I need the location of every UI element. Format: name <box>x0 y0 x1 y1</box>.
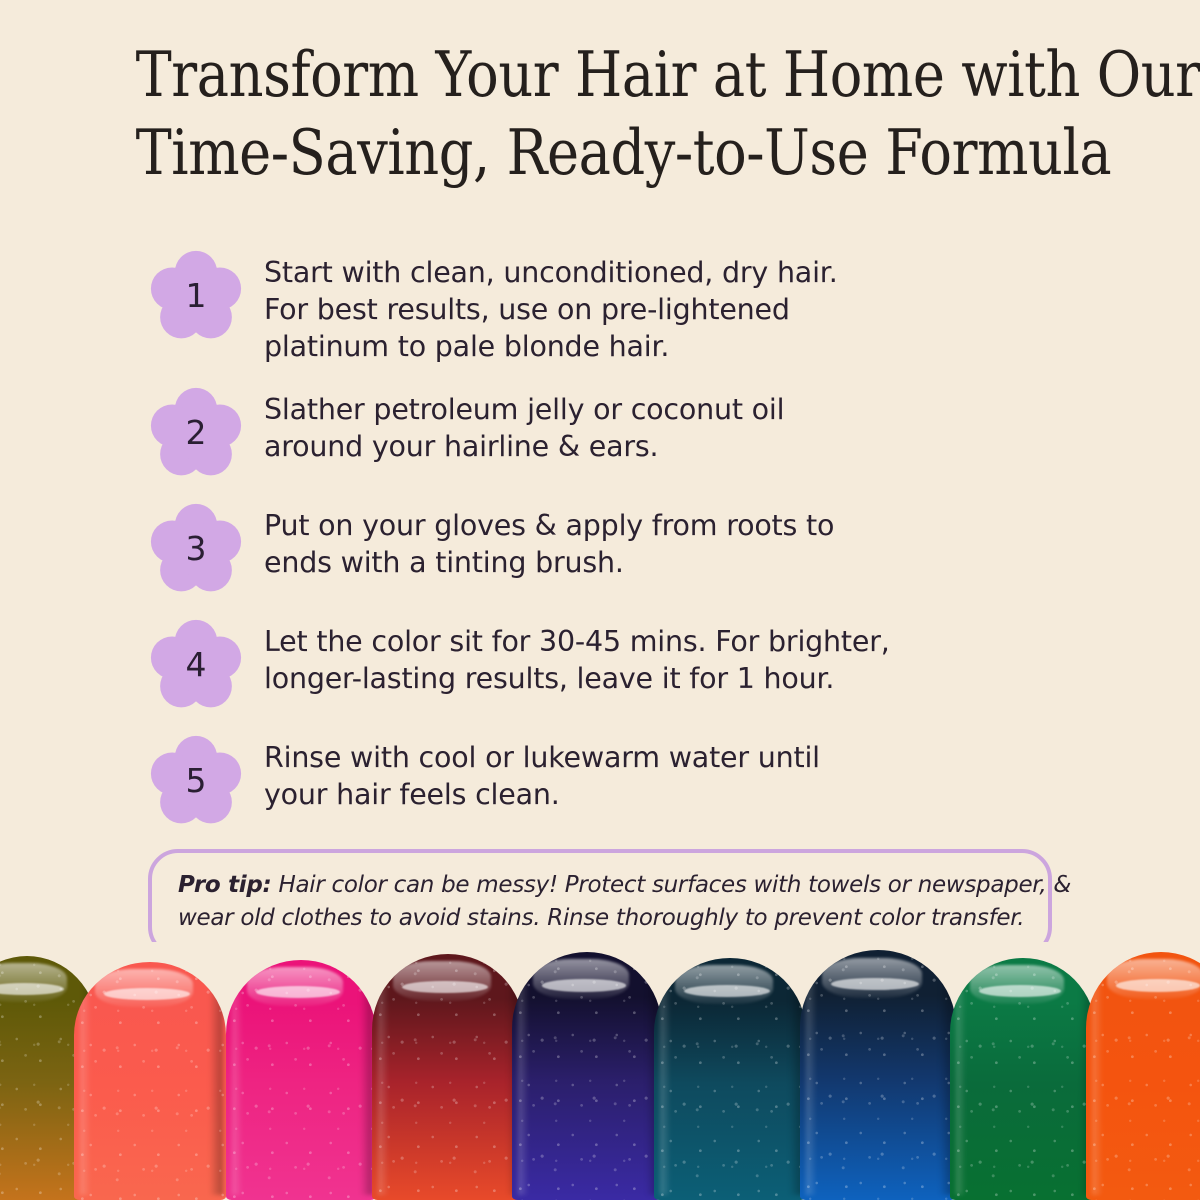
color-bottle <box>1086 952 1200 1200</box>
page-title-line-2: Time-Saving, Ready-to-Use Formula <box>136 114 1065 192</box>
flower-badge-icon: 2 <box>150 387 242 479</box>
color-bottle <box>74 962 226 1200</box>
bottle-gloss-streak <box>542 979 626 991</box>
pro-tip-line-1: Pro tip: Hair color can be messy! Protec… <box>178 869 1022 902</box>
color-bottle <box>950 958 1096 1200</box>
list-item: 4 Let the color sit for 30-45 mins. For … <box>150 617 1070 711</box>
step-number: 5 <box>150 735 242 827</box>
step-text-line: Rinse with cool or lukewarm water until <box>264 739 820 776</box>
pro-tip-line-2: wear old clothes to avoid stains. Rinse … <box>178 902 1022 935</box>
list-item: 1 Start with clean, unconditioned, dry h… <box>150 248 1070 365</box>
flower-badge-icon: 4 <box>150 619 242 711</box>
step-text-line: Let the color sit for 30-45 mins. For br… <box>264 623 890 660</box>
bottle-gloss-streak <box>104 988 189 1000</box>
step-text-line: Put on your gloves & apply from roots to <box>264 507 834 544</box>
step-text-line: around your hairline & ears. <box>264 428 784 465</box>
pro-tip-label: Pro tip: <box>178 872 271 898</box>
bottle-gloss-streak <box>979 985 1061 997</box>
step-text-line: Start with clean, unconditioned, dry hai… <box>264 254 838 291</box>
step-number: 4 <box>150 619 242 711</box>
step-text-line: For best results, use on pre-lightened <box>264 291 838 328</box>
list-item: 5 Rinse with cool or lukewarm water unti… <box>150 733 1070 827</box>
step-text-line: your hair feels clean. <box>264 776 820 813</box>
step-text: Slather petroleum jelly or coconut oil a… <box>264 385 784 465</box>
steps-list: 1 Start with clean, unconditioned, dry h… <box>150 248 1070 849</box>
poster-root: Transform Your Hair at Home with Our Tim… <box>0 0 1200 1200</box>
step-text-line: platinum to pale blonde hair. <box>264 328 838 365</box>
flower-badge-icon: 5 <box>150 735 242 827</box>
step-text-line: Slather petroleum jelly or coconut oil <box>264 391 784 428</box>
flower-badge-icon: 3 <box>150 503 242 595</box>
color-bottle <box>226 960 376 1200</box>
flower-badge-icon: 1 <box>150 250 242 342</box>
bottle-gloss-streak <box>1116 979 1200 991</box>
page-title: Transform Your Hair at Home with Our Tim… <box>60 36 1140 192</box>
step-text-line: ends with a tinting brush. <box>264 544 834 581</box>
step-text: Put on your gloves & apply from roots to… <box>264 501 834 581</box>
color-bottle <box>800 950 956 1200</box>
list-item: 3 Put on your gloves & apply from roots … <box>150 501 1070 595</box>
step-text: Start with clean, unconditioned, dry hai… <box>264 248 838 365</box>
pro-tip-text-1: Hair color can be messy! Protect surface… <box>271 872 1071 898</box>
page-title-line-1: Transform Your Hair at Home with Our <box>136 36 1065 114</box>
list-item: 2 Slather petroleum jelly or coconut oil… <box>150 385 1070 479</box>
pro-tip-callout: Pro tip: Hair color can be messy! Protec… <box>148 849 1052 957</box>
color-bottle <box>654 958 806 1200</box>
color-bottles-strip <box>0 942 1200 1200</box>
step-text: Let the color sit for 30-45 mins. For br… <box>264 617 890 697</box>
bottle-gloss-streak <box>831 978 918 991</box>
color-bottle <box>512 952 662 1200</box>
step-number: 1 <box>150 250 242 342</box>
step-text: Rinse with cool or lukewarm water until … <box>264 733 820 813</box>
step-number: 3 <box>150 503 242 595</box>
bottle-gloss-streak <box>684 985 769 997</box>
step-text-line: longer-lasting results, leave it for 1 h… <box>264 660 890 697</box>
color-bottle <box>372 954 524 1200</box>
step-number: 2 <box>150 387 242 479</box>
